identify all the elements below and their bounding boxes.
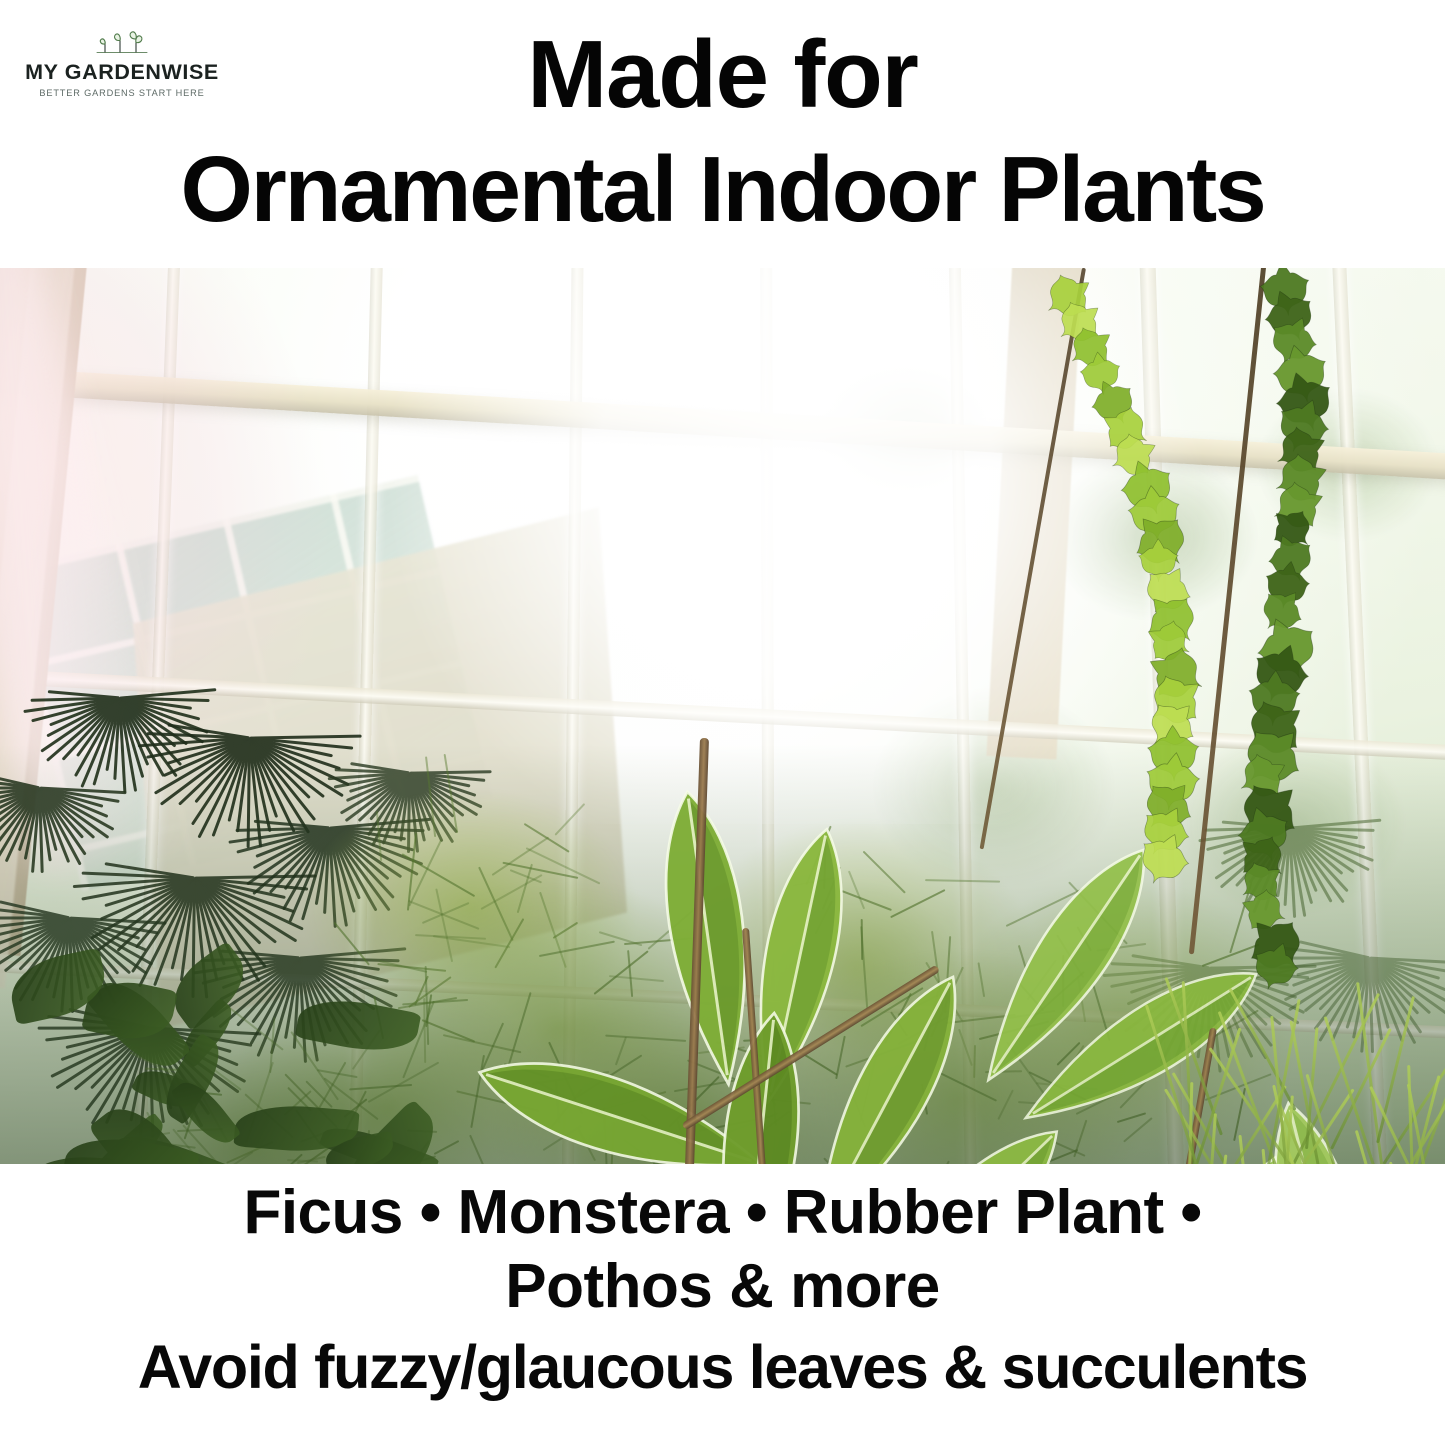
headline: Made for Ornamental Indoor Plants <box>0 16 1445 247</box>
plant-list-text: Ficus • Monstera • Rubber Plant • Pothos… <box>0 1176 1445 1404</box>
plant-list-line-2: Pothos & more <box>0 1249 1445 1325</box>
headline-line-1: Made for <box>0 16 1445 133</box>
greenhouse-interior-photo <box>0 268 1445 1164</box>
poster-canvas: MY GARDENWISE BETTER GARDENS START HERE … <box>0 0 1445 1445</box>
headline-line-2: Ornamental Indoor Plants <box>0 133 1445 246</box>
plant-list-line-1: Ficus • Monstera • Rubber Plant • <box>0 1176 1445 1249</box>
plant-warning-line: Avoid fuzzy/glaucous leaves & succulents <box>0 1331 1445 1404</box>
